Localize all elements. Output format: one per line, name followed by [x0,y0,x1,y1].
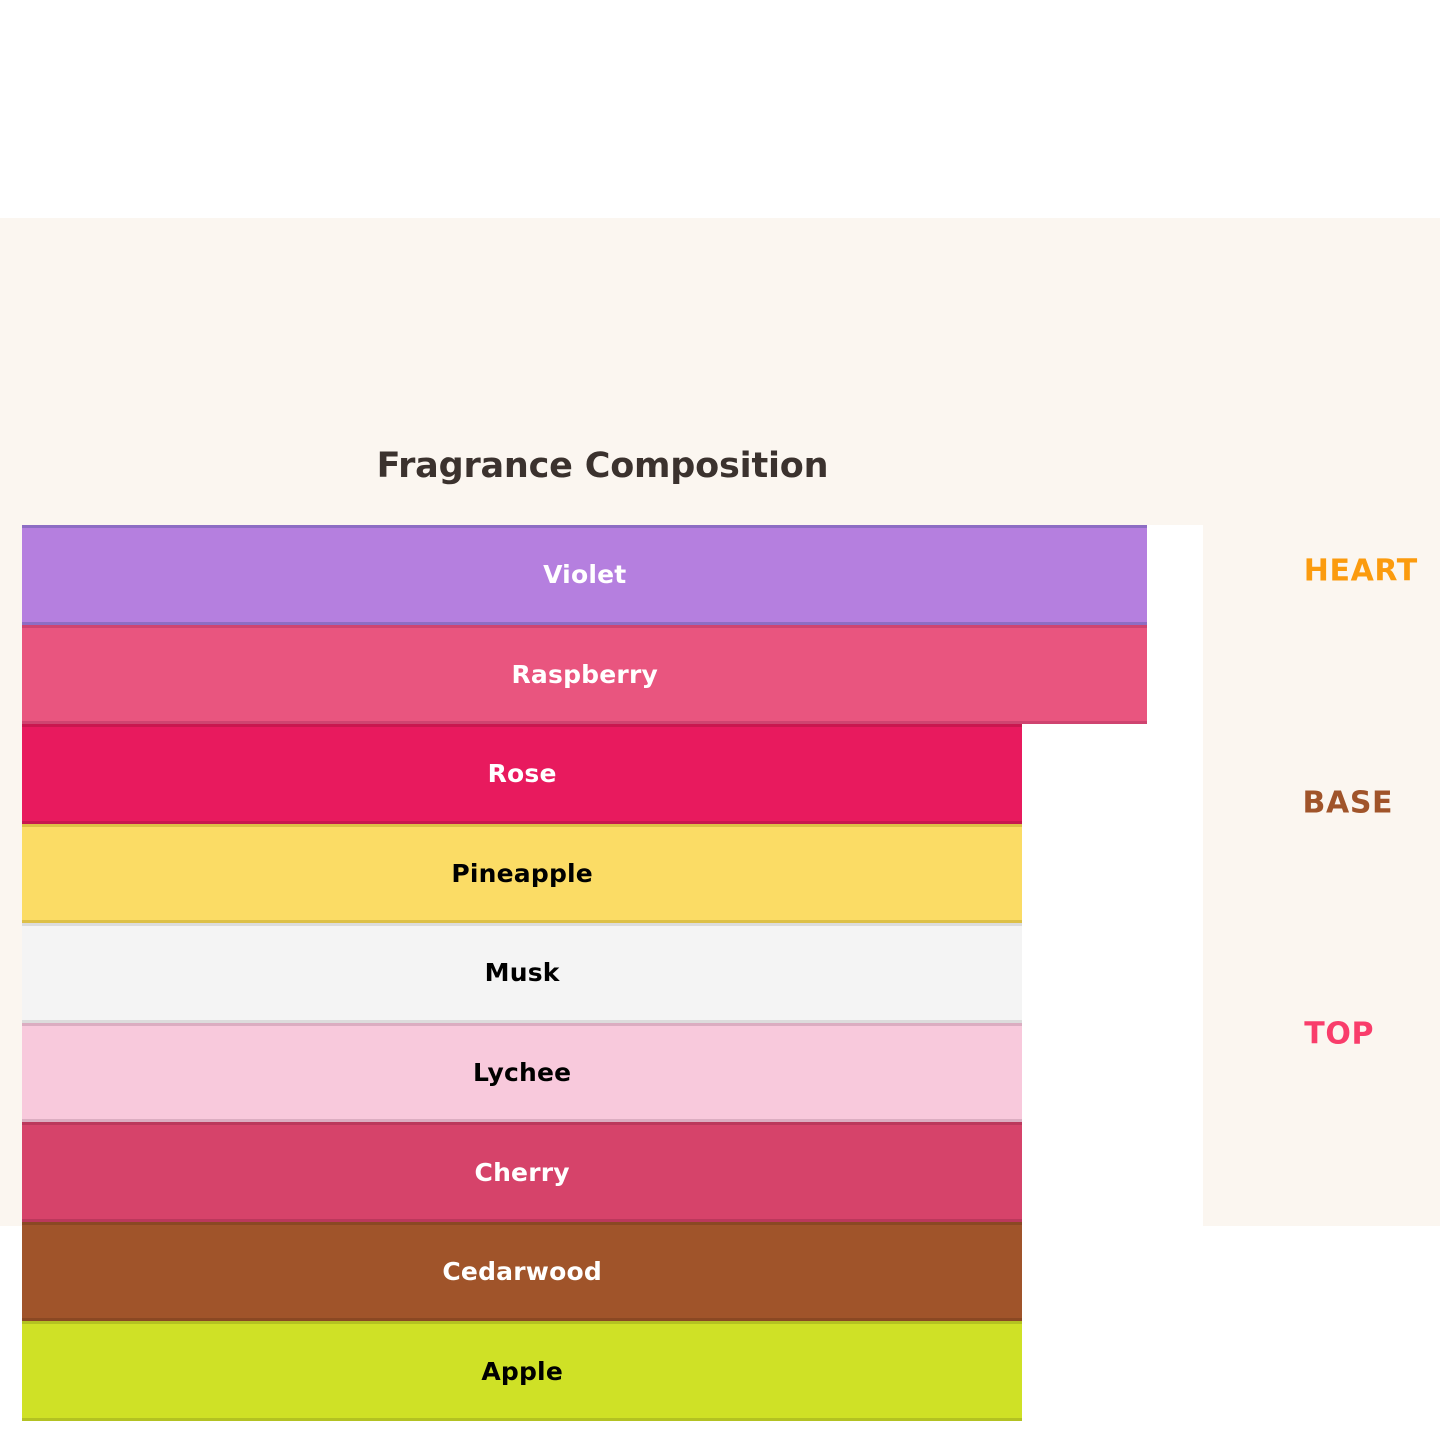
chart-canvas: Fragrance Composition VioletRaspberryRos… [0,0,1440,1440]
bar-violet[interactable] [22,525,1147,625]
bar-row: Rose [22,724,1203,824]
bar-row: Apple [22,1321,1203,1421]
bar-raspberry[interactable] [22,625,1147,725]
bar-lychee[interactable] [22,1023,1022,1123]
group-label-base: BASE [1303,785,1394,820]
bar-row: Raspberry [22,625,1203,725]
bar-cherry[interactable] [22,1122,1022,1222]
bar-row: Lychee [22,1023,1203,1123]
bar-row: Musk [22,923,1203,1023]
bar-musk[interactable] [22,923,1022,1023]
bar-pineapple[interactable] [22,824,1022,924]
bar-row: Cherry [22,1122,1203,1222]
bar-row: Violet [22,525,1203,625]
plot-area: VioletRaspberryRosePineappleMuskLycheeCh… [22,525,1203,1421]
figure-background: Fragrance Composition VioletRaspberryRos… [0,218,1440,1226]
bar-cedarwood[interactable] [22,1222,1022,1322]
bar-apple[interactable] [22,1321,1022,1421]
bar-row: Cedarwood [22,1222,1203,1322]
page-title: Fragrance Composition [0,446,1205,486]
group-label-heart: HEART [1304,553,1418,588]
bar-row: Pineapple [22,824,1203,924]
group-label-top: TOP [1304,1016,1374,1051]
bar-rose[interactable] [22,724,1022,824]
